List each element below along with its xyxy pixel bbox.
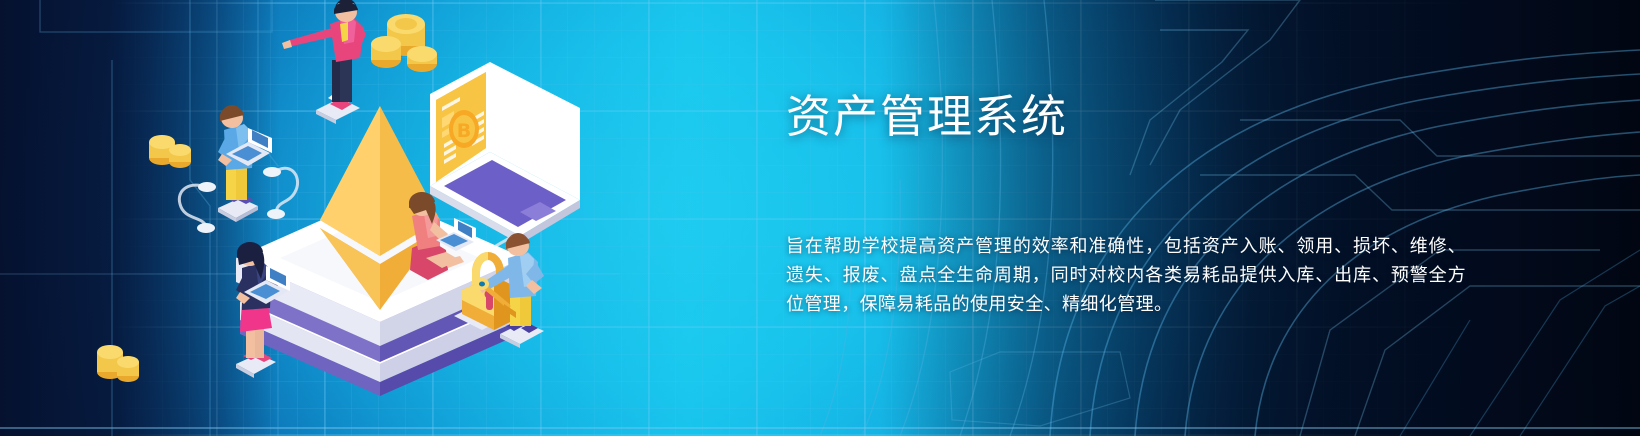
person-with-laptop-figure <box>218 105 272 222</box>
svg-text:B: B <box>457 120 471 142</box>
laptop-with-bitcoin-screen-icon: B <box>430 62 580 244</box>
banner-description: 旨在帮助学校提高资产管理的效率和准确性，包括资产入账、领用、损坏、维修、遗失、报… <box>786 232 1466 319</box>
isometric-blockchain-illustration: B <box>40 0 600 436</box>
banner-copy-block: 资产管理系统 旨在帮助学校提高资产管理的效率和准确性，包括资产入账、领用、损坏、… <box>786 92 1486 142</box>
page-title: 资产管理系统 <box>786 92 1486 142</box>
person-pointing-figure <box>282 0 366 124</box>
asset-management-banner: B <box>0 0 1640 436</box>
